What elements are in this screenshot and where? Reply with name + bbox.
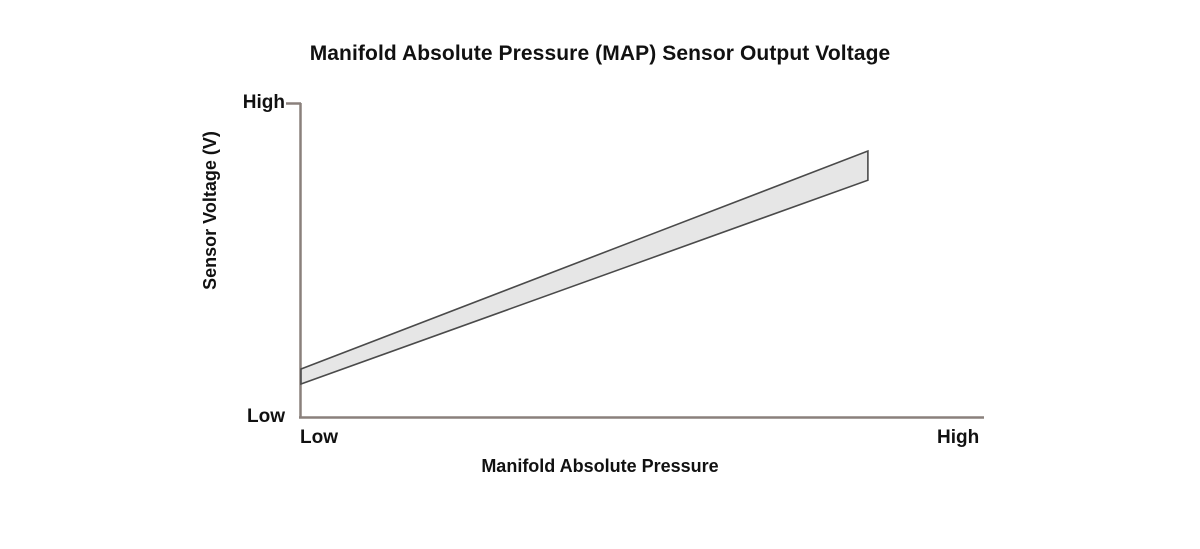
chart-figure: Manifold Absolute Pressure (MAP) Sensor … bbox=[0, 0, 1200, 549]
y-axis-title: Sensor Voltage (V) bbox=[199, 131, 220, 290]
y-axis-title-container: Sensor Voltage (V) bbox=[110, 120, 310, 300]
x-axis-title: Manifold Absolute Pressure bbox=[0, 456, 1200, 477]
x-axis-high-tick-label: High bbox=[937, 427, 979, 449]
x-axis-low-tick-label: Low bbox=[300, 427, 338, 449]
y-axis-low-tick-label: Low bbox=[247, 406, 285, 428]
y-axis-high-tick-label: High bbox=[243, 92, 285, 114]
sensor-voltage-band bbox=[301, 151, 868, 384]
